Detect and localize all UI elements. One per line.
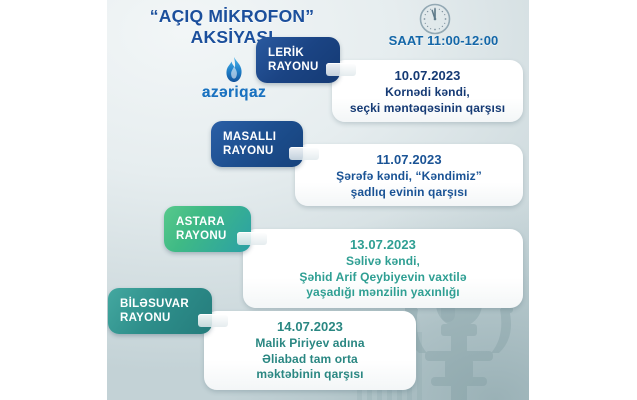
- event-card-masalli[interactable]: 11.07.2023 Şərəfə kəndi, “Kəndimiz” şadl…: [295, 144, 523, 206]
- tag-connector-notch: [198, 314, 228, 327]
- district-tag-line-1: ASTARA: [176, 215, 237, 230]
- district-tag-line-2: RAYONU: [120, 311, 198, 326]
- event-location-line: Şəhid Arif Qeybiyevin vaxtilə: [255, 270, 511, 286]
- poster: “AÇIQ MİKROFON” AKSİYASI azəriqaz: [107, 0, 529, 400]
- event-date: 10.07.2023: [344, 67, 511, 85]
- event-location-line: Səlivə kəndi,: [255, 254, 511, 270]
- district-tag-line-1: LERİK: [268, 46, 326, 61]
- event-location-line: Şərəfə kəndi, “Kəndimiz”: [307, 169, 511, 185]
- event-location-line: Kornədi kəndi,: [344, 85, 511, 101]
- screenshot-root: “AÇIQ MİKROFON” AKSİYASI azəriqaz: [0, 0, 637, 400]
- clock-icon: [418, 2, 452, 36]
- event-location-line: yaşadığı mənzilin yaxınlığı: [255, 285, 511, 301]
- event-date: 14.07.2023: [216, 318, 404, 336]
- flame-icon: [223, 57, 245, 83]
- district-tag-line-2: RAYONU: [268, 60, 326, 75]
- event-location-line: Malik Piriyev adına: [216, 336, 404, 352]
- brand-name: azəriqaz: [149, 84, 319, 102]
- event-location-line: məktəbinin qarşısı: [216, 367, 404, 383]
- event-card-astara[interactable]: 13.07.2023 Səlivə kəndi, Şəhid Arif Qeyb…: [243, 229, 523, 308]
- tag-connector-notch: [237, 232, 267, 245]
- time-label: SAAT 11:00-12:00: [358, 33, 529, 48]
- event-card-lerik[interactable]: 10.07.2023 Kornədi kəndi, seçki məntəqəs…: [332, 60, 523, 122]
- district-tag-line-2: RAYONU: [176, 229, 237, 244]
- event-location-line: Əliabad tam orta: [216, 352, 404, 368]
- district-tag-line-2: RAYONU: [223, 144, 289, 159]
- event-card-bilesuvar[interactable]: 14.07.2023 Malik Piriyev adına Əliabad t…: [204, 311, 416, 390]
- event-date: 11.07.2023: [307, 151, 511, 169]
- district-tag-line-1: BİLƏSUVAR: [120, 297, 198, 312]
- district-tag-masalli[interactable]: MASALLI RAYONU: [211, 121, 303, 167]
- district-tag-astara[interactable]: ASTARA RAYONU: [164, 206, 251, 252]
- event-date: 13.07.2023: [255, 236, 511, 254]
- event-location-line: seçki məntəqəsinin qarşısı: [344, 101, 511, 117]
- district-tag-lerik[interactable]: LERİK RAYONU: [256, 37, 340, 83]
- tag-connector-notch: [289, 147, 319, 160]
- title-line-1: “AÇIQ MİKROFON”: [150, 6, 314, 26]
- event-location-line: şadlıq evinin qarşısı: [307, 185, 511, 201]
- district-tag-line-1: MASALLI: [223, 130, 289, 145]
- tag-connector-notch: [326, 63, 356, 76]
- district-tag-bilesuvar[interactable]: BİLƏSUVAR RAYONU: [108, 288, 212, 334]
